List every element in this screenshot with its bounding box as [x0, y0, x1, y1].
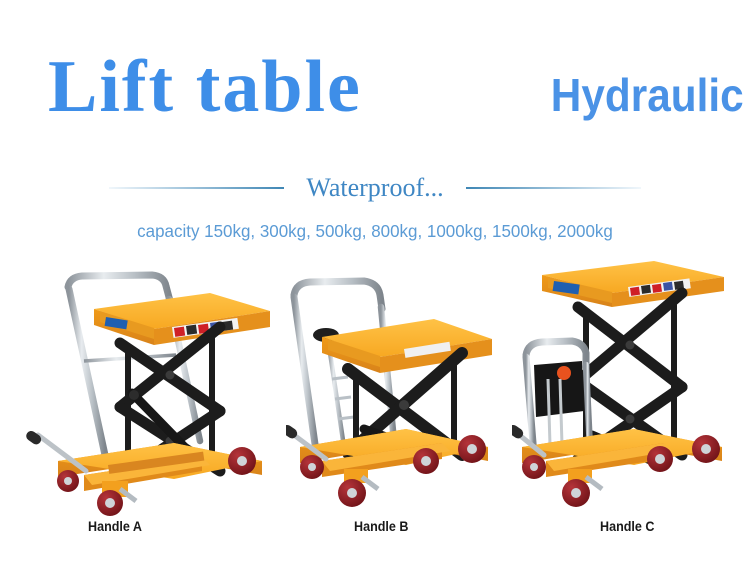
capacity-text: capacity 150kg, 300kg, 500kg, 800kg, 100… — [11, 219, 739, 243]
lift-table-b-illustration — [286, 269, 501, 517]
control-panel-c — [534, 361, 584, 445]
divider: Waterproof... — [0, 172, 750, 204]
product-row — [0, 252, 750, 517]
product-image-handle-c — [512, 259, 737, 517]
platform-c — [542, 261, 724, 307]
caption-handle-a: Handle A — [88, 518, 142, 536]
pump-handle-a — [24, 429, 86, 471]
divider-rule-left — [109, 187, 284, 189]
caption-handle-b: Handle B — [354, 518, 408, 536]
product-image-handle-a — [24, 265, 274, 517]
divider-rule-right — [466, 187, 641, 189]
lift-table-c-illustration — [512, 259, 737, 517]
caption-row: Handle A Handle B Handle C — [0, 518, 750, 540]
control-knob-c — [557, 366, 571, 380]
product-image-handle-b — [286, 269, 501, 517]
platform-a — [94, 293, 270, 345]
headline-block: Lift table Hydraulic — [0, 44, 750, 134]
divider-label: Waterproof... — [284, 173, 465, 203]
caption-handle-c: Handle C — [600, 518, 654, 536]
chassis-c — [522, 429, 722, 477]
page-subtitle: Hydraulic — [551, 68, 744, 122]
page-title: Lift table — [48, 44, 362, 130]
lift-table-a-illustration — [24, 265, 274, 517]
